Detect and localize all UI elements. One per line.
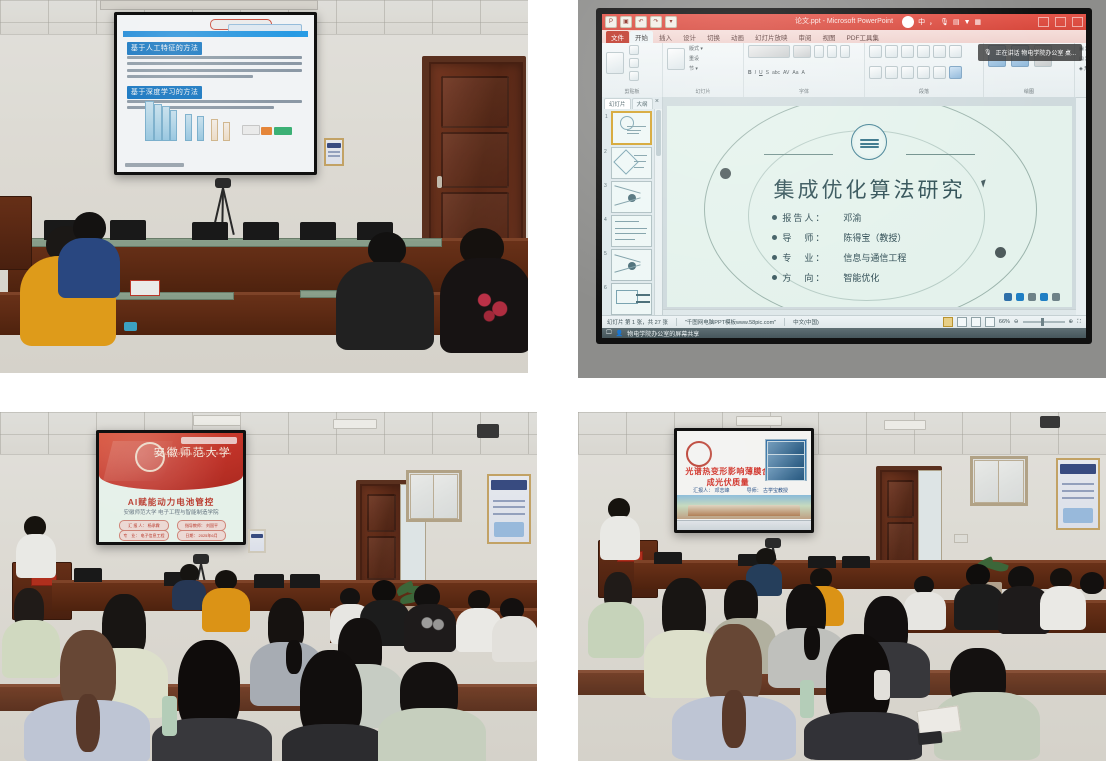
redo-icon[interactable]: ↷ [650,16,662,28]
slide-meta-list: 报告人： 邓渝 导 师： 陈得宝（教授） 专 业： 信息与通信工程 [772,211,906,284]
thumbnail-number: 3 [604,183,607,189]
photo-top-left: 基于人工特征的方法 基于深度学习的方法 [0,0,528,373]
attendee-body [492,616,537,662]
ribbon-group-paragraph: 段落 [865,43,984,97]
tab-review[interactable]: 审阅 [794,31,817,43]
slide-title: AI赋能动力电池管控 [99,496,243,508]
font-size-box[interactable] [793,45,811,58]
group-label-font: 字体 [748,88,860,95]
tab-view[interactable]: 视图 [818,31,841,43]
slide-stage: 集成优化算法研究 报告人： 邓渝 导 师： 陈得宝（教授） [663,97,1076,316]
tab-animations[interactable]: 动画 [726,31,749,43]
cut-icon[interactable] [629,45,639,55]
tab-home[interactable]: 开始 [630,31,653,43]
view-normal-icon[interactable] [943,317,953,327]
slide-taskbar [677,520,811,530]
tab-design[interactable]: 设计 [678,31,701,43]
ponytail [804,626,820,660]
university-seal [686,441,712,467]
thumbnail-item[interactable]: 1 [611,111,652,145]
slide-red-banner: 安徽师范大学 ANHUI NORMAL UNIVERSITY [99,433,243,490]
slide-counter: 幻灯片 第 1 张，共 27 张 [607,318,668,326]
bullets-icon[interactable] [869,45,882,58]
phone-on-desk [917,731,942,745]
reset-label[interactable]: 重设 [689,55,703,62]
share-mic-icon[interactable] [1016,293,1024,301]
layout-label[interactable]: 版式 ▾ [689,45,703,52]
wooden-door[interactable] [360,484,404,588]
projector-screen: 光谱热变形影响薄膜合成光伏质量 汇报人： 邓志峰 导师： 古学宝教授 [674,428,814,533]
close-icon[interactable] [1072,17,1083,27]
ceiling-speaker [1040,416,1060,428]
justify-icon[interactable] [917,66,930,79]
share-banner-text: 物电学院办公室的屏幕共享 [627,329,699,338]
customize-qat-icon[interactable]: ▾ [665,16,677,28]
wooden-door[interactable] [880,470,922,572]
chair-back [842,556,870,568]
thumbnail-item[interactable]: 6 [611,283,652,315]
slide-pill: 日期： 2025年6月 [177,530,227,541]
chair-back [290,574,320,588]
slide-advisor: 导师： 古学宝教授 [747,487,788,494]
monitor-icon: 🖵 [606,330,612,337]
ceiling-light [736,416,782,426]
attendee-body [282,724,386,761]
attendee-body [804,712,922,760]
university-name-en: ANHUI NORMAL UNIVERSITY [154,451,233,456]
screen-share-banner: 🖵 👤 物电学院办公室的屏幕共享 [602,328,1086,338]
campus-photo [677,495,811,519]
group-label-slides: 幻灯片 [667,88,739,95]
share-pause-icon[interactable] [1004,293,1012,301]
meta-row: 导 师： 陈得宝（教授） [772,231,906,244]
projected-slide: 安徽师范大学 ANHUI NORMAL UNIVERSITY AI赋能动力电池管… [99,433,243,542]
tab-pdf-tools[interactable]: PDF工具集 [842,31,885,43]
zoom-level: 66% [999,319,1010,325]
phone-on-desk [124,322,137,331]
increase-font-icon[interactable] [814,45,824,58]
wall-notice [248,529,266,553]
hair-band [874,670,890,700]
meta-row: 专 业： 信息与通信工程 [772,251,906,264]
attendee-body [904,592,946,630]
section-label[interactable]: 节 ▾ [689,65,703,72]
bench-row [634,560,1106,589]
toolbox-icon[interactable]: ▼ [964,19,971,26]
meta-key: 方 向： [782,271,826,284]
open-doorway [918,470,942,570]
wall-outlet [954,534,968,543]
status-bar: 幻灯片 第 1 张，共 27 张 "千图网电脑PPT模板www.58pic.co… [602,315,1086,328]
projected-slide: 光谱热变形影响薄膜合成光伏质量 汇报人： 邓志峰 导师： 古学宝教授 [677,431,811,530]
bullet-icon [772,275,777,280]
ceiling [0,412,537,455]
pane-tabs[interactable]: 幻灯片 大纲 [602,97,662,109]
paste-icon[interactable] [606,52,624,74]
meta-value: 陈得宝（教授） [843,231,906,244]
presenter-body [600,516,640,560]
attendee-body [202,588,250,632]
powerpoint-logo-icon: P [605,16,617,28]
document-title: 论文.ppt [795,18,821,25]
projector-screen: 基于人工特征的方法 基于深度学习的方法 [114,12,317,175]
zoom-in-icon[interactable]: ⊕ [1069,319,1074,325]
view-sorter-icon[interactable] [957,317,967,327]
thermos-bottle [800,680,814,718]
chair-back [74,568,102,582]
wall-poster [487,474,531,544]
current-slide[interactable]: 集成优化算法研究 报告人： 邓渝 导 师： 陈得宝（教授） [667,106,1072,307]
camera-icon [193,554,209,564]
ribbon-group-clipboard: 剪贴板 [602,43,663,97]
slide-thumbnail-pane: 幻灯片 大纲 × 1 2 [602,97,663,316]
photo-bottom-left: 安徽师范大学 ANHUI NORMAL UNIVERSITY AI赋能动力电池管… [0,412,537,761]
slide-photo-strip [765,439,807,481]
divider [784,318,785,326]
bullet-icon [772,255,777,260]
strikethrough-icon[interactable]: abc [772,70,780,76]
zoom-out-icon[interactable]: ⊖ [1014,319,1019,325]
shadow-icon[interactable]: S [766,70,769,76]
thumbnail-item[interactable]: 2 [611,147,652,179]
thumbnail-item[interactable]: 4 [611,215,652,247]
pane-tab-outline[interactable]: 大纲 [632,98,653,109]
attendee-head [215,570,237,590]
char-spacing-icon[interactable]: AV [783,70,789,76]
ribbon-tabs[interactable]: 文件 开始 插入 设计 切换 动画 幻灯片放映 审阅 视图 PDF工具集 [602,30,1086,43]
restore-icon[interactable] [1055,17,1066,27]
meta-key: 导 师： [782,231,826,244]
attendee-head [372,580,396,602]
underline-icon[interactable]: U [759,70,763,76]
title-rule-left [764,154,833,155]
ponytail [722,690,746,748]
meta-key: 专 业： [782,251,826,264]
ponytail [286,640,302,674]
attendee-body [588,602,644,658]
thumbnail-item[interactable]: 3 [611,181,652,213]
group-label-clipboard: 剪贴板 [606,88,658,95]
attendee-body [2,620,60,678]
align-center-icon[interactable] [885,66,898,79]
tab-file[interactable]: 文件 [606,31,629,43]
window-controls[interactable] [1038,17,1083,27]
chair-back [192,222,228,240]
slide-heading-2: 基于深度学习的方法 [127,86,203,99]
sogou-icon[interactable]: S [902,16,914,28]
convert-smartart-icon[interactable] [949,66,962,79]
thumbnail-number: 2 [604,149,607,155]
slide-title: 光谱热变形影响薄膜合成光伏质量 [685,466,771,488]
align-right-icon[interactable] [901,66,914,79]
meta-value: 智能优化 [843,271,879,284]
decrease-indent-icon[interactable] [901,45,914,58]
shape-effects-label[interactable]: ◈ 形状效果 ▾ [1079,65,1086,72]
slide-figure [145,106,295,147]
copy-icon[interactable] [629,58,639,68]
titlebar: P ▣ ↶ ↷ ▾ 论文.ppt - Microsoft PowerPoint … [602,14,1086,30]
projector-screen: 安徽师范大学 ANHUI NORMAL UNIVERSITY AI赋能动力电池管… [96,430,246,545]
camera-icon [765,538,781,548]
mic-icon[interactable]: 🎙 [940,18,949,26]
panel-icon[interactable]: ▦ [975,18,982,26]
increase-indent-icon[interactable] [917,45,930,58]
minimize-icon[interactable] [1038,17,1049,27]
name-card [130,280,160,296]
bold-icon[interactable]: B [748,70,752,76]
attendee-body [954,584,1004,630]
quick-access-toolbar[interactable]: P ▣ ↶ ↷ ▾ [605,16,677,28]
attendee-head [468,590,490,610]
ceiling-light [884,420,926,430]
undo-icon[interactable]: ↶ [635,16,647,28]
ponytail [76,694,100,752]
ime-punct-icon[interactable]: ， [929,17,936,27]
wall-notice [324,138,344,166]
tab-insert[interactable]: 插入 [654,31,677,43]
group-label-drawing: 绘图 [988,88,1070,95]
clear-format-icon[interactable] [840,45,850,58]
mic-icon: 🎙 [984,49,992,56]
person-icon: 👤 [616,330,623,337]
slide-title: 集成优化算法研究 [667,174,1072,204]
attendee-head [966,564,990,586]
share-indicator [181,437,237,444]
ime-toolbar[interactable]: S 中 ， 🎙 ▤ ▼ ▦ [902,15,981,29]
chair-back [243,222,279,240]
attendee-head [1080,572,1104,594]
change-case-icon[interactable]: Aa [792,70,798,76]
new-slide-icon[interactable] [667,48,685,70]
ceiling-grid [0,412,537,454]
ime-mode-icon[interactable]: 中 [918,17,925,27]
attendee-body [58,238,120,298]
attendee-shirt-graphic [418,614,448,636]
numbering-icon[interactable] [885,45,898,58]
window-title: 论文.ppt - Microsoft PowerPoint [795,16,893,26]
text-direction-icon[interactable] [949,45,962,58]
camera-icon [215,178,231,188]
university-emblem [851,124,887,160]
slide-header-bar [123,31,308,37]
slide-body-1 [127,56,302,82]
ribbon-group-slides: 版式 ▾ 重设 节 ▾ 幻灯片 [663,43,744,97]
pane-tab-slides[interactable]: 幻灯片 [604,98,631,109]
ribbon-group-font: B I U S abc AV Aa A 字体 [744,43,865,97]
font-color-icon[interactable]: A [801,70,804,76]
notification-text: 正在讲话 物电学院办公室 桌... [996,48,1076,57]
photo-bottom-right: 光谱热变形影响薄膜合成光伏质量 汇报人： 邓志峰 导师： 古学宝教授 [578,412,1106,761]
bullet-icon [772,215,777,220]
attendee-body [172,580,206,610]
ceiling-grid [578,412,1106,454]
thumbnail-number: 1 [605,114,608,120]
thumbnail-number: 6 [604,285,607,291]
thumbnail-item[interactable]: 5 [611,249,652,281]
save-icon[interactable]: ▣ [620,16,632,28]
screen-valance [100,0,318,10]
slide-heading-1: 基于人工特征的方法 [127,42,203,55]
decrease-font-icon[interactable] [827,45,837,58]
close-pane-icon[interactable]: × [655,98,659,105]
group-label-paragraph: 段落 [869,88,979,95]
slide-pill: 专 业： 电子信息工程 [119,530,169,541]
attendee-head [368,232,406,266]
align-left-icon[interactable] [869,66,882,79]
ceiling-light [193,415,241,426]
share-video-icon[interactable] [1028,293,1036,301]
language-indicator[interactable]: 中文(中国) [793,318,819,326]
ceiling [578,412,1106,455]
decorative-dot [995,247,1006,258]
thumbnail-scrollbar[interactable] [654,109,662,316]
attendee-body [378,708,486,761]
group-label-editing: 编辑 [1079,88,1086,95]
attendee-body [1040,586,1086,630]
view-controls[interactable]: 66% ⊖ ⊕ ⛶ [943,317,1081,327]
photo-top-right: P ▣ ↶ ↷ ▾ 论文.ppt - Microsoft PowerPoint … [578,0,1106,378]
meta-row: 方 向： 智能优化 [772,271,906,284]
meta-value: 信息与通信工程 [843,251,906,264]
ceiling-speaker [477,424,499,438]
view-reading-icon[interactable] [971,317,981,327]
speaking-notification: 🎙 正在讲话 物电学院办公室 桌... [978,44,1082,61]
interior-window [970,456,1028,506]
slide-subtitle: 安徽师范大学 电子工程与智能制造学院 [99,508,243,516]
floating-share-toolbar[interactable] [1004,293,1060,301]
projected-slide: 基于人工特征的方法 基于深度学习的方法 [117,15,314,172]
attendee-body [336,262,434,350]
wall-poster [1056,458,1100,530]
lectern [0,196,32,270]
attendee-shirt-graphic [470,288,518,328]
slide-presenter: 汇报人： 邓志峰 [693,487,729,494]
university-seal [135,442,165,472]
slide-footer [125,163,184,167]
columns-icon[interactable] [933,66,946,79]
font-name-box[interactable] [748,45,790,58]
thermos-bottle [162,696,177,736]
italic-icon[interactable]: I [755,70,756,76]
keyboard-icon[interactable]: ▤ [953,18,960,26]
meta-row: 报告人： 邓渝 [772,211,906,224]
app-name: Microsoft PowerPoint [827,18,893,25]
meta-value: 邓渝 [843,211,861,224]
chair-back [300,222,336,240]
format-painter-icon[interactable] [629,71,639,81]
theme-name: "千图网电脑PPT模板www.58pic.com" [685,318,776,326]
chair-back [110,220,146,240]
view-slideshow-icon[interactable] [985,317,995,327]
share-members-icon[interactable] [1040,293,1048,301]
ceiling-light [333,419,377,429]
thumbnail-number: 5 [604,251,607,257]
thumbnail-number: 4 [604,217,607,223]
chair-back [808,556,836,568]
bullet-icon [772,235,777,240]
fit-slide-icon[interactable]: ⛶ [1077,319,1081,326]
thumbnail-list[interactable]: 1 2 3 [602,109,655,316]
zoom-slider[interactable] [1023,321,1065,323]
chair-back [654,552,682,564]
attendee-head [1050,568,1072,588]
interior-window [406,470,462,522]
presenter-body [16,534,56,578]
powerpoint-window: P ▣ ↶ ↷ ▾ 论文.ppt - Microsoft PowerPoint … [602,14,1086,338]
divider [676,318,677,326]
share-more-icon[interactable] [1052,293,1060,301]
line-spacing-icon[interactable] [933,45,946,58]
tab-slideshow[interactable]: 幻灯片放映 [750,31,793,43]
title-rule-right [906,154,975,155]
meta-key: 报告人： [782,211,826,224]
chair-back [254,574,284,588]
tab-transitions[interactable]: 切换 [702,31,725,43]
